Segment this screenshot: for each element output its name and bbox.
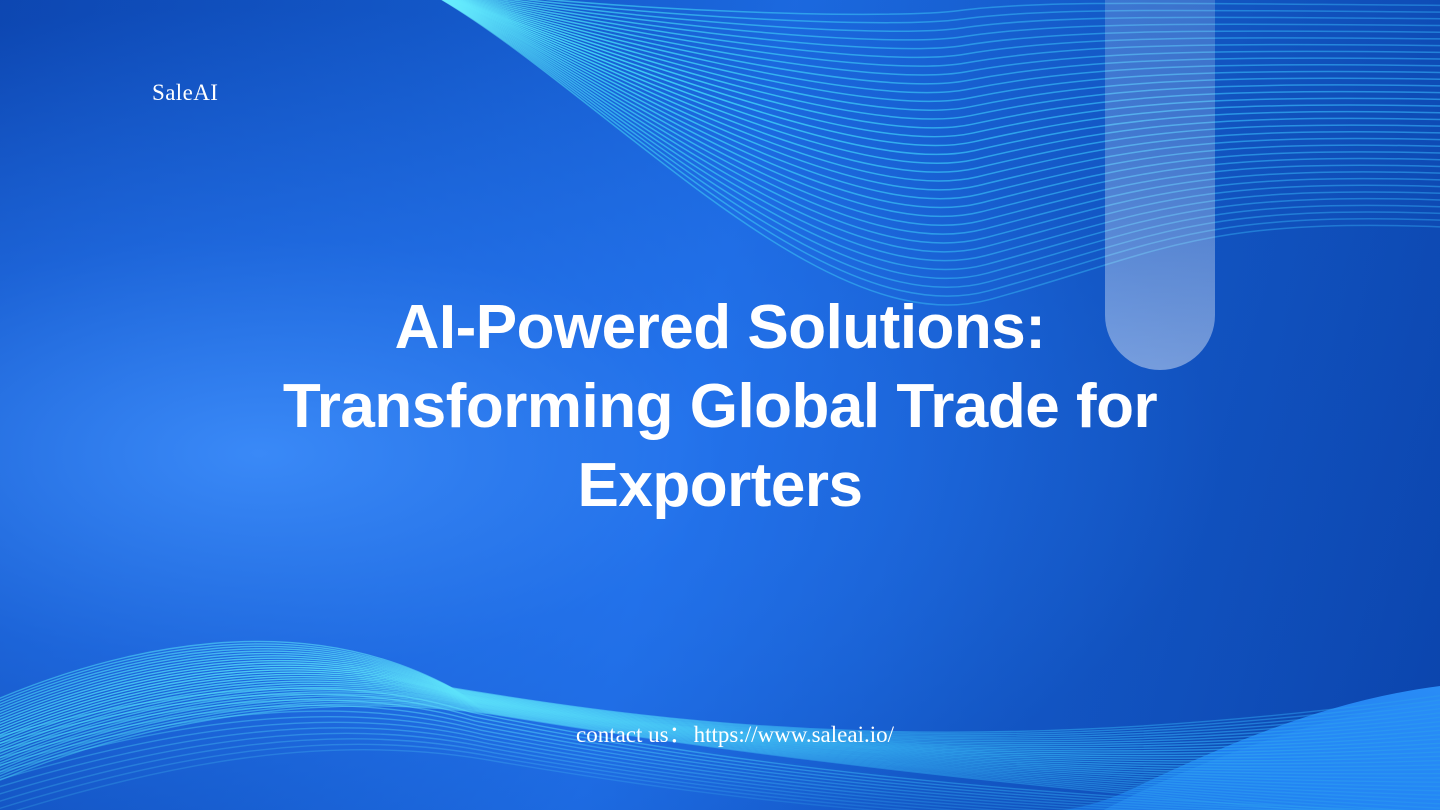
contact-url[interactable]: https://www.saleai.io/ [694,722,894,747]
contact-separator: ： [669,722,694,747]
title-line-2: Transforming Global Trade for [220,367,1220,446]
title-line-3: Exporters [220,446,1220,525]
brand-logo: SaleAI [152,80,218,106]
presentation-slide: SaleAI AI-Powered Solutions: Transformin… [0,0,1440,810]
contact-label: contact us [576,722,669,747]
slide-title: AI-Powered Solutions: Transforming Globa… [220,288,1220,525]
title-line-1: AI-Powered Solutions: [220,288,1220,367]
contact-info: contact us：https://www.saleai.io/ [320,715,1150,749]
